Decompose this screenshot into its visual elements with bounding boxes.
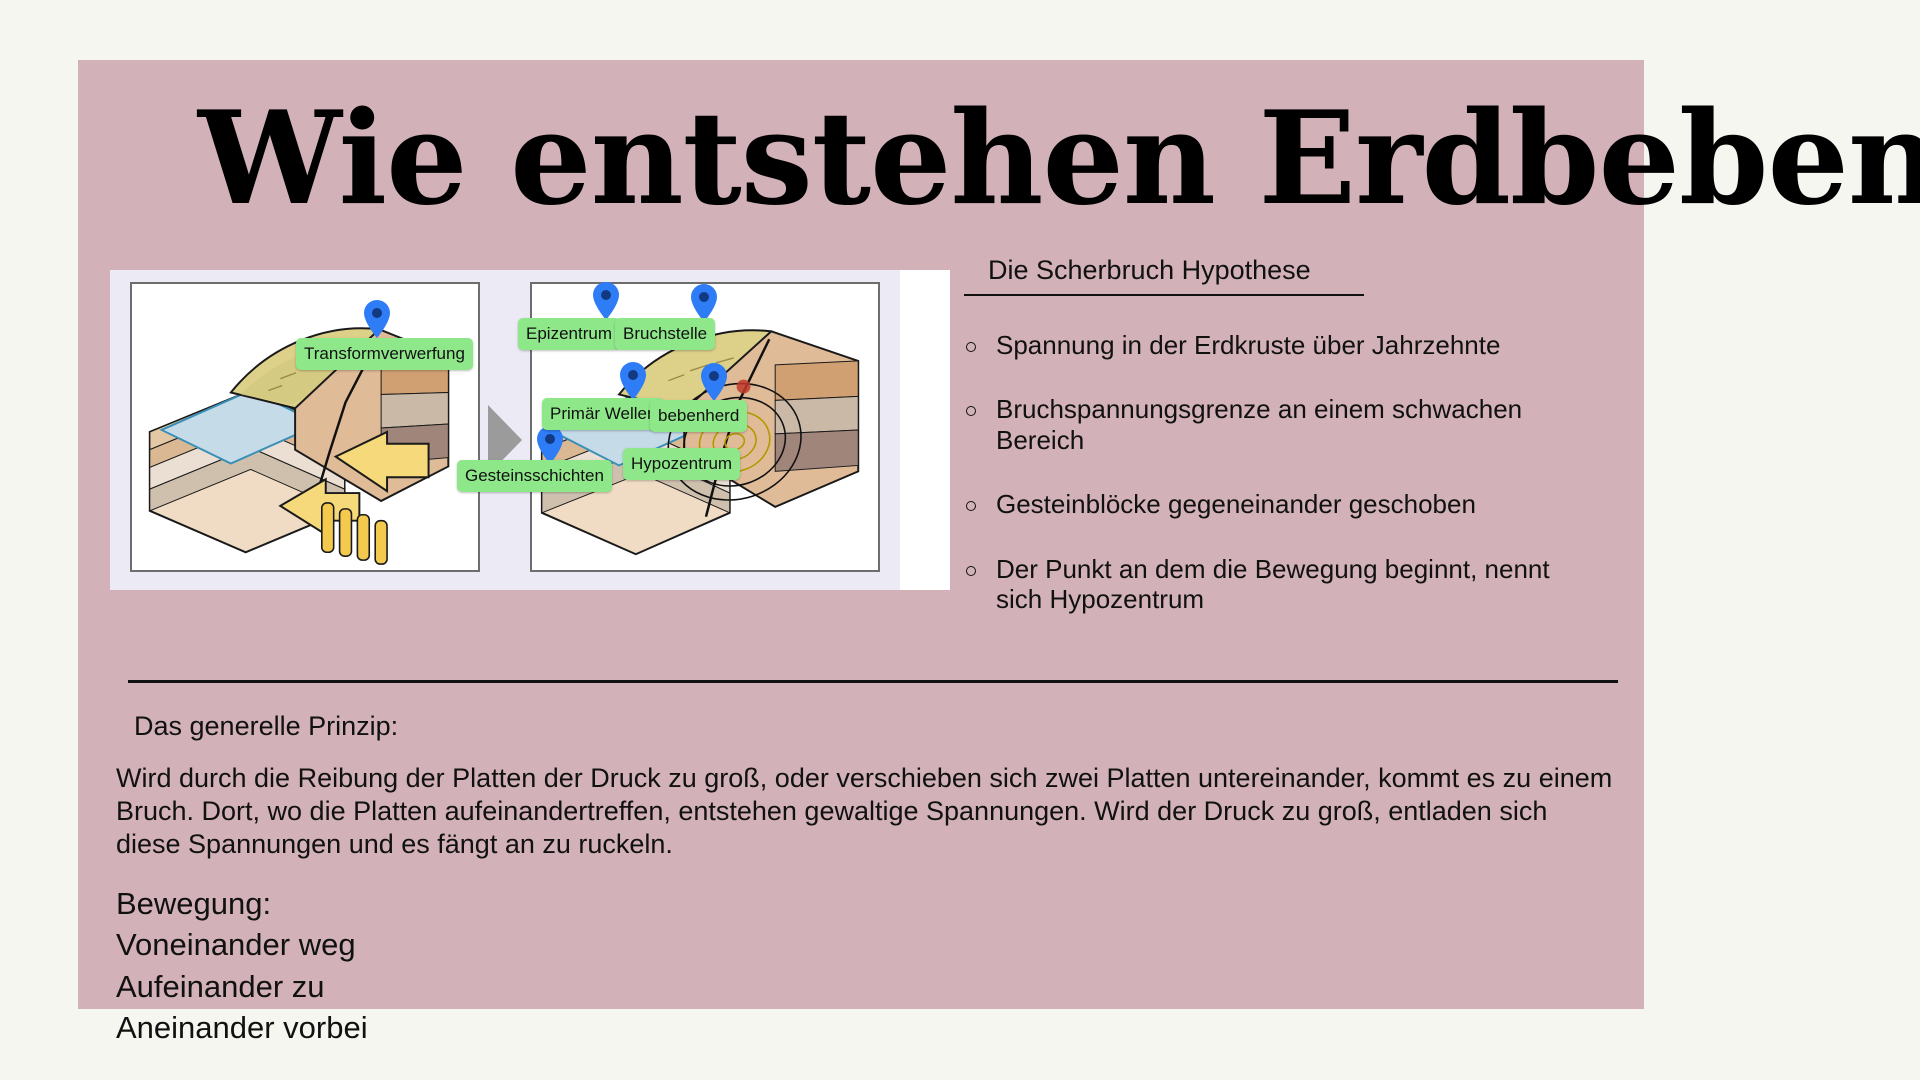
- label-primaer-wellen[interactable]: Primär Wellen: [542, 398, 664, 430]
- figure-white-margin: [900, 270, 950, 590]
- principle-paragraph: Wird durch die Reibung der Platten der D…: [116, 762, 1616, 861]
- label-gesteinsschichten[interactable]: Gesteinsschichten: [457, 460, 612, 492]
- movement-block: Bewegung: Voneinander weg Aufeinander zu…: [116, 883, 1628, 1048]
- pin-bruchstelle-icon: [691, 284, 717, 322]
- list-item: Bruchspannungsgrenze an einem schwachen …: [958, 394, 1606, 455]
- pin-transformverwerfung-icon: [364, 300, 390, 338]
- pin-gesteinsschichten-icon: [537, 426, 563, 464]
- label-transformverwerfung[interactable]: Transformverwerfung: [296, 338, 473, 370]
- label-hypozentrum[interactable]: Hypozentrum: [623, 448, 740, 480]
- list-item: Spannung in der Erdkruste über Jahrzehnt…: [958, 330, 1638, 360]
- label-bruchstelle[interactable]: Bruchstelle: [615, 318, 715, 350]
- section-divider: [128, 680, 1618, 683]
- list-item: Gesteinblöcke gegeneinander geschoben: [958, 489, 1638, 519]
- pin-primaer-wellen-icon: [620, 362, 646, 400]
- hypothesis-section: Die Scherbruch Hypothese Spannung in der…: [958, 255, 1638, 648]
- pin-epizentrum-icon: [593, 282, 619, 320]
- page-title: Wie entstehen Erdbeben?: [198, 95, 1598, 223]
- list-item: Der Punkt an dem die Bewegung beginnt, n…: [958, 554, 1556, 615]
- movement-heading: Bewegung:: [116, 883, 1628, 924]
- movement-item-2: Aufeinander zu: [116, 966, 1628, 1007]
- principle-section: Das generelle Prinzip: Wird durch die Re…: [108, 700, 1628, 1048]
- label-epizentrum[interactable]: Epizentrum: [518, 318, 620, 350]
- movement-item-3: Aneinander vorbei: [116, 1007, 1628, 1048]
- hypothesis-heading-underline: [964, 294, 1364, 296]
- hypothesis-heading: Die Scherbruch Hypothese: [988, 255, 1638, 286]
- label-bebenherd[interactable]: bebenherd: [650, 400, 747, 432]
- hypothesis-bullet-list: Spannung in der Erdkruste über Jahrzehnt…: [958, 330, 1638, 614]
- principle-label: Das generelle Prinzip:: [134, 700, 1628, 742]
- movement-item-1: Voneinander weg: [116, 924, 1628, 965]
- diagram-panel-left: [130, 282, 480, 572]
- transform-fault-block-illustration: [132, 284, 478, 570]
- slide-canvas: Wie entstehen Erdbeben?: [78, 60, 1644, 1009]
- pin-bebenherd-icon: [701, 363, 727, 401]
